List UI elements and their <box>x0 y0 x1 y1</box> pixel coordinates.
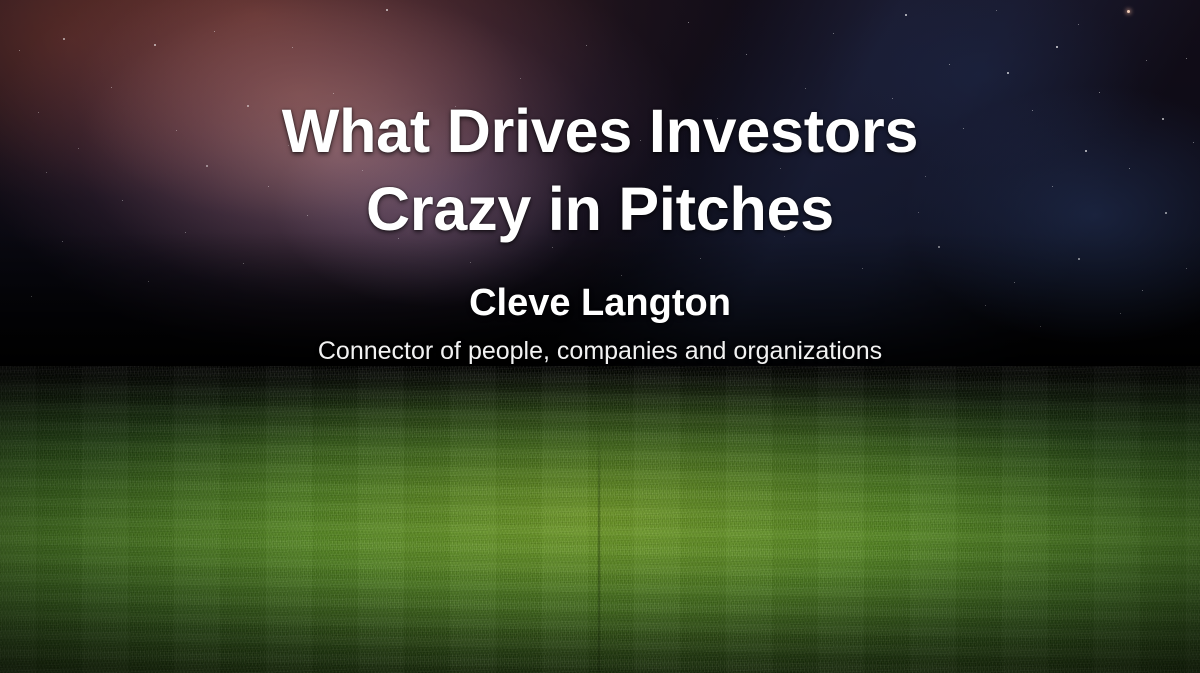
presenter-name: Cleve Langton <box>0 279 1200 327</box>
presentation-slide: What Drives Investors Crazy in Pitches C… <box>0 0 1200 673</box>
slide-title: What Drives Investors Crazy in Pitches <box>0 92 1200 248</box>
slide-text-layer: What Drives Investors Crazy in Pitches C… <box>0 0 1200 673</box>
presenter-tagline: Connector of people, companies and organ… <box>0 335 1200 367</box>
